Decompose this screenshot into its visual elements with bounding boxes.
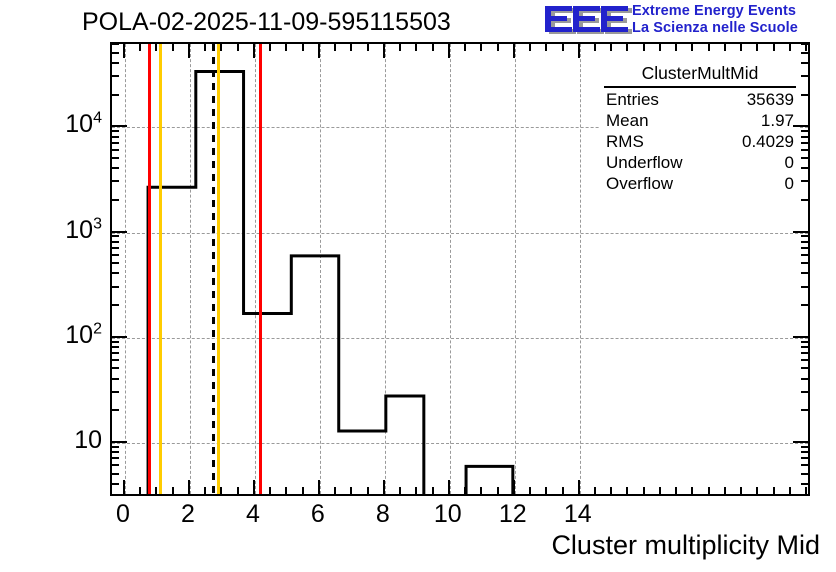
x-axis-minor-tick [789,487,791,495]
x-axis-minor-tick [708,487,710,495]
y-axis-tick-right [801,241,809,243]
x-axis-tick-top [480,43,482,51]
x-axis-tick-top [545,43,547,51]
stats-row-value: 0 [785,173,794,194]
x-axis-tick-top [285,43,287,51]
x-axis-tick-top [578,43,580,58]
x-axis-tick-top [383,43,385,58]
x-axis-tick-top [724,43,726,51]
eee-logo-text: Extreme Energy Events La Scienza nelle S… [632,3,836,37]
y-axis-minor-tick [111,130,119,132]
y-axis-minor-tick [111,451,119,453]
x-axis-minor-tick [399,487,401,495]
y-axis-tick-right [801,409,809,411]
x-axis-tick-top [789,43,791,51]
eee-logo-line2: La Scienza nelle Scuole [632,20,836,37]
x-axis-minor-tick [334,487,336,495]
y-axis-major-tick [111,336,127,338]
y-axis-minor-tick [111,180,119,182]
x-axis-tick-top [172,43,174,51]
x-axis-tick-top [237,43,239,51]
x-axis-minor-tick [367,487,369,495]
x-axis-tick-top [659,43,661,51]
x-axis-minor-tick [626,487,628,495]
y-axis-tick-label: 104 [30,112,102,137]
x-axis-minor-tick [545,487,547,495]
x-axis-tick-label: 6 [288,500,348,528]
y-axis-major-tick [111,231,127,233]
x-axis-minor-tick [724,487,726,495]
y-axis-minor-tick [111,167,119,169]
x-axis-tick-top [675,43,677,51]
x-axis-tick-top [529,43,531,51]
y-axis-tick-right [801,43,809,45]
marker-line-mean-dashed [212,44,215,494]
stats-row: Overflow0 [600,173,800,194]
x-axis-minor-tick [691,487,693,495]
y-axis-tick-right [801,451,809,453]
stats-row-key: Entries [606,89,659,110]
y-axis-exponent: 4 [93,110,102,127]
x-axis-tick-top [562,43,564,51]
stats-row-value: 0 [785,152,794,173]
eee-logo: Extreme Energy Events La Scienza nelle S… [543,2,833,40]
x-axis-minor-tick [350,487,352,495]
x-axis-tick-top [399,43,401,51]
y-axis-minor-tick [111,272,119,274]
stats-row-key: RMS [606,131,644,152]
x-axis-tick-top [626,43,628,51]
y-axis-tick-right [801,235,809,237]
y-axis-tick-right [801,286,809,288]
y-axis-tick-right [801,94,809,96]
y-axis-tick-right [793,336,809,338]
x-axis-tick-top [415,43,417,51]
x-axis-minor-tick [464,487,466,495]
y-axis-tick-right [801,272,809,274]
y-axis-minor-tick [111,483,119,485]
y-axis-tick-right [801,52,809,54]
stats-box: ClusterMultMid Entries35639Mean1.97RMS0.… [600,62,800,194]
x-axis-minor-tick [659,487,661,495]
y-axis-minor-tick [111,241,119,243]
y-axis-minor-tick [111,142,119,144]
stats-row-key: Underflow [606,152,683,173]
y-axis-tick-right [801,304,809,306]
y-axis-tick-right [793,125,809,127]
x-axis-major-tick [188,480,190,495]
x-axis-minor-tick [172,487,174,495]
x-axis-tick-top [253,43,255,58]
y-axis-tick-right [801,446,809,448]
x-axis-tick-top [367,43,369,51]
x-axis-major-tick [383,480,385,495]
x-axis-major-tick [578,480,580,495]
x-axis-tick-top [740,43,742,51]
x-axis-tick-label: 10 [418,500,478,528]
y-axis-minor-tick [111,62,119,64]
y-axis-tick-right [801,167,809,169]
y-axis-exponent: 2 [93,320,102,337]
y-axis-minor-tick [111,286,119,288]
x-axis-tick-label: 8 [353,500,413,528]
x-axis-tick-top [708,43,710,51]
x-axis-tick-top [123,43,125,58]
y-axis-minor-tick [111,304,119,306]
x-axis-minor-tick [773,487,775,495]
x-axis-tick-label: 12 [483,500,543,528]
y-axis-minor-tick [111,136,119,138]
stats-row-value: 1.97 [761,110,794,131]
y-axis-minor-tick [111,235,119,237]
y-axis-tick-right [801,483,809,485]
y-axis-minor-tick [111,247,119,249]
x-axis-minor-tick [285,487,287,495]
x-axis-minor-tick [562,487,564,495]
x-axis-major-tick [123,480,125,495]
stats-row: Underflow0 [600,152,800,173]
x-axis-tick-top [155,43,157,51]
y-axis-minor-tick [111,446,119,448]
y-axis-minor-tick [111,457,119,459]
y-axis-minor-tick [111,94,119,96]
x-axis-minor-tick [643,487,645,495]
x-axis-tick-label: 0 [93,500,153,528]
x-axis-tick-top [756,43,758,51]
x-axis-minor-tick [302,487,304,495]
y-axis-tick-right [801,341,809,343]
x-axis-minor-tick [675,487,677,495]
marker-line-cut-low-red [148,44,151,494]
stats-row: Entries35639 [600,89,800,110]
x-axis-major-tick [253,480,255,495]
x-axis-minor-tick [756,487,758,495]
x-axis-minor-tick [529,487,531,495]
x-axis-minor-tick [220,487,222,495]
y-axis-tick-right [801,378,809,380]
x-axis-minor-tick [480,487,482,495]
y-axis-tick-right [801,75,809,77]
x-axis-minor-tick [610,487,612,495]
x-axis-tick-top [302,43,304,51]
x-axis-tick-top [643,43,645,51]
y-axis-minor-tick [111,75,119,77]
y-axis-minor-tick [111,464,119,466]
y-axis-tick-right [801,473,809,475]
y-axis-tick-right [801,136,809,138]
x-axis-minor-tick [594,487,596,495]
y-axis-exponent: 3 [93,215,102,232]
y-axis-tick-label: 102 [30,323,102,348]
x-axis-tick-top [691,43,693,51]
y-axis-minor-tick [111,199,119,201]
stats-row-value: 0.4029 [742,131,794,152]
y-axis-tick-right [801,464,809,466]
stats-row-key: Overflow [606,173,673,194]
stats-rows: Entries35639Mean1.97RMS0.4029Underflow0O… [600,89,800,194]
root-canvas: POLA-02-2025-11-09-595115503 [0,0,836,572]
y-axis-minor-tick [111,341,119,343]
stats-box-title: ClusterMultMid [604,62,796,88]
x-axis-tick-top [188,43,190,58]
y-axis-minor-tick [111,262,119,264]
y-axis-major-tick [111,125,127,127]
x-axis-minor-tick [805,487,807,495]
y-axis-tick-right [801,391,809,393]
x-axis-tick-top [773,43,775,51]
y-axis-minor-tick [111,43,119,45]
y-axis-tick-right [801,130,809,132]
y-axis-tick-right [801,247,809,249]
x-axis-minor-tick [269,487,271,495]
y-axis-tick-right [801,180,809,182]
y-axis-minor-tick [111,359,119,361]
y-axis-tick-right [801,346,809,348]
y-axis-tick-label: 103 [30,218,102,243]
y-axis-minor-tick [111,378,119,380]
x-axis-tick-top [432,43,434,51]
stats-row-value: 35639 [747,89,794,110]
x-axis-tick-top [448,43,450,58]
y-axis-tick-right [793,231,809,233]
eee-logo-mark-icon [543,5,633,37]
x-axis-tick-top [497,43,499,51]
y-axis-tick-right [801,352,809,354]
stats-row: Mean1.97 [600,110,800,131]
x-axis-tick-top [220,43,222,51]
x-axis-minor-tick [237,487,239,495]
stats-row-key: Mean [606,110,649,131]
y-axis-tick-right [801,149,809,151]
y-axis-minor-tick [111,149,119,151]
y-axis-tick-right [801,142,809,144]
x-axis-minor-tick [139,487,141,495]
x-axis-tick-top [204,43,206,51]
y-axis-tick-right [801,254,809,256]
x-axis-tick-top [513,43,515,58]
y-axis-minor-tick [111,367,119,369]
x-axis-major-tick [448,480,450,495]
y-axis-minor-tick [111,391,119,393]
x-axis-title: Cluster multiplicity Mid [551,530,820,560]
y-axis-minor-tick [111,352,119,354]
y-axis-tick-right [801,262,809,264]
y-axis-tick-right [793,441,809,443]
x-axis-minor-tick [415,487,417,495]
x-axis-tick-top [139,43,141,51]
x-axis-tick-top [594,43,596,51]
y-axis-major-tick [111,441,127,443]
y-axis-tick-right [801,367,809,369]
y-axis-tick-label: 10 [30,428,102,453]
x-axis-tick-label: 2 [158,500,218,528]
page-title: POLA-02-2025-11-09-595115503 [82,8,451,36]
y-axis-tick-right [801,359,809,361]
y-axis-minor-tick [111,157,119,159]
x-axis-tick-top [350,43,352,51]
x-axis-tick-label: 14 [548,500,608,528]
x-axis-major-tick [513,480,515,495]
histogram-outline [148,71,513,494]
x-axis-minor-tick [497,487,499,495]
y-axis-tick-right [801,157,809,159]
x-axis-minor-tick [155,487,157,495]
x-axis-tick-top [610,43,612,51]
y-axis-tick-right [801,199,809,201]
eee-logo-line1: Extreme Energy Events [632,3,836,20]
x-axis-tick-top [318,43,320,58]
x-axis-tick-label: 4 [223,500,283,528]
y-axis-minor-tick [111,254,119,256]
marker-line-cut-high-orange [217,44,220,494]
x-axis-minor-tick [432,487,434,495]
y-axis-tick-right [801,457,809,459]
y-axis-tick-right [801,62,809,64]
y-axis-minor-tick [111,473,119,475]
x-axis-major-tick [318,480,320,495]
x-axis-tick-top [269,43,271,51]
x-axis-minor-tick [204,487,206,495]
x-axis-tick-top [334,43,336,51]
stats-row: RMS0.4029 [600,131,800,152]
x-axis-minor-tick [740,487,742,495]
marker-line-cut-high-red [259,44,262,494]
x-axis-tick-top [464,43,466,51]
y-axis-minor-tick [111,346,119,348]
y-axis-minor-tick [111,409,119,411]
marker-line-cut-low-orange [159,44,162,494]
y-axis-minor-tick [111,52,119,54]
